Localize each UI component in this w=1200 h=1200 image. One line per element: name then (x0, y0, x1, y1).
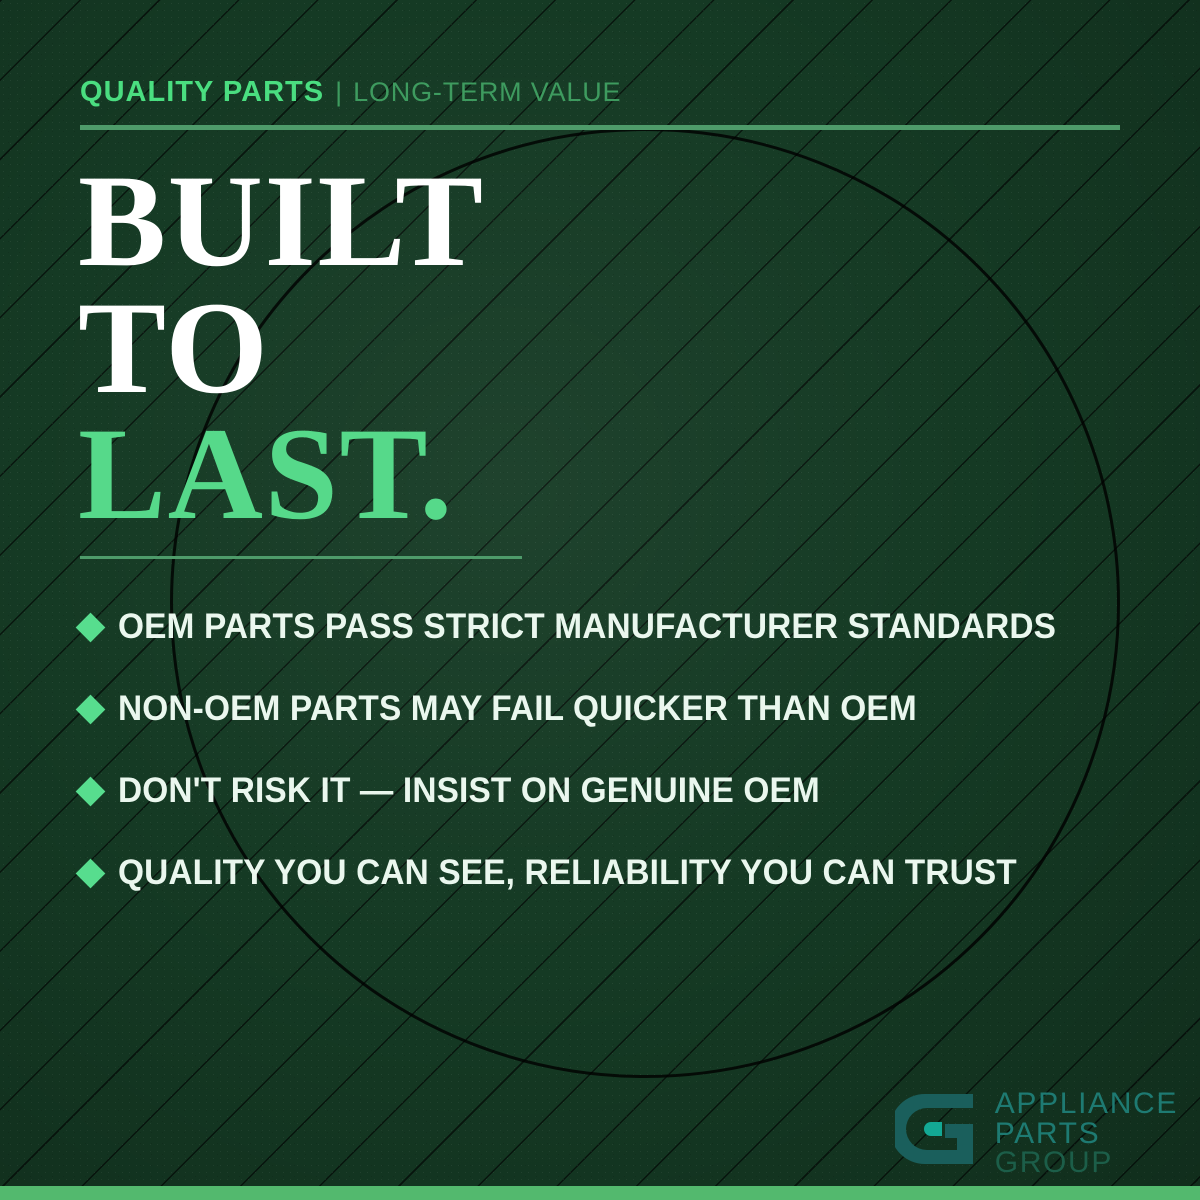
list-item: OEM PARTS PASS STRICT MANUFACTURER STAND… (80, 586, 1150, 668)
brand-wordmark-line-2: PARTS (995, 1119, 1178, 1149)
list-item-label: OEM PARTS PASS STRICT MANUFACTURER STAND… (118, 607, 1056, 647)
headline-line-3: LAST. (78, 411, 485, 538)
eyebrow-divider: | (335, 77, 342, 108)
poster-canvas: QUALITY PARTS | LONG-TERM VALUE BUILT TO… (0, 0, 1200, 1200)
diamond-icon (76, 858, 106, 888)
diamond-icon (76, 612, 106, 642)
eyebrow-sub-label: LONG-TERM VALUE (353, 77, 621, 108)
bottom-accent-bar (0, 1186, 1200, 1200)
list-item: QUALITY YOU CAN SEE, RELIABILITY YOU CAN… (80, 832, 1150, 914)
headline-line-1: BUILT (78, 158, 485, 285)
list-item: NON-OEM PARTS MAY FAIL QUICKER THAN OEM (80, 668, 1150, 750)
page-title: BUILT TO LAST. (78, 158, 485, 538)
list-item-label: NON-OEM PARTS MAY FAIL QUICKER THAN OEM (118, 689, 917, 729)
eyebrow: QUALITY PARTS | LONG-TERM VALUE (80, 76, 621, 109)
diamond-icon (76, 776, 106, 806)
list-item-label: QUALITY YOU CAN SEE, RELIABILITY YOU CAN… (118, 853, 1017, 893)
eyebrow-main-label: QUALITY PARTS (80, 76, 324, 109)
brand-wordmark: APPLIANCE PARTS GROUP (995, 1086, 1178, 1178)
brand-logo: APPLIANCE PARTS GROUP (895, 1086, 1178, 1178)
header-divider-rule (80, 125, 1120, 130)
brand-wordmark-line-1: APPLIANCE (995, 1089, 1178, 1119)
headline-line-2: TO (78, 285, 485, 412)
benefit-list: OEM PARTS PASS STRICT MANUFACTURER STAND… (80, 586, 1150, 914)
headline-divider-rule (80, 556, 522, 559)
diamond-icon (76, 694, 106, 724)
list-item-label: DON'T RISK IT — INSIST ON GENUINE OEM (118, 771, 820, 811)
brand-wordmark-line-3: GROUP (995, 1148, 1178, 1178)
list-item: DON'T RISK IT — INSIST ON GENUINE OEM (80, 750, 1150, 832)
g-monogram-icon (895, 1086, 981, 1177)
